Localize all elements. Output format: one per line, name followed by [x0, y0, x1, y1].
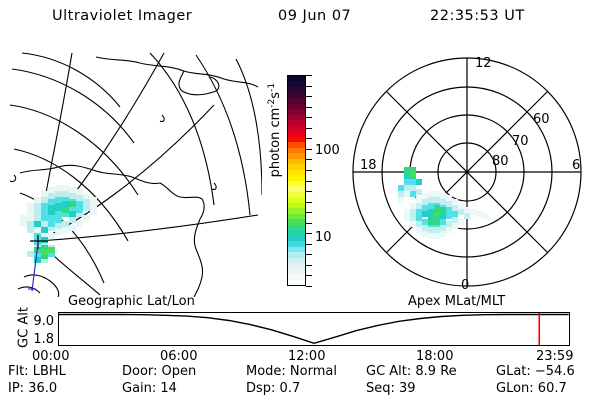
geographic-map-svg	[0, 45, 262, 297]
colorbar-tick	[306, 286, 312, 287]
observation-time: 22:35:53 UT	[430, 8, 525, 24]
orbit-xtick-0: 00:00	[32, 349, 69, 364]
orbit-ytick-low: 1.8	[20, 332, 54, 347]
status-dsp: Dsp: 0.7	[246, 381, 300, 396]
status-glat: GLat: −54.6	[496, 364, 575, 379]
colorbar-tick	[306, 191, 312, 192]
longitude-gridlines	[38, 53, 258, 295]
orbit-xtick-3: 18:00	[416, 349, 453, 364]
header-bar: Ultraviolet Imager 09 Jun 07 22:35:53 UT	[0, 8, 600, 30]
colorbar-exponent-minus1: -1	[267, 83, 277, 92]
colorbar-tick-label-10: 10	[315, 230, 332, 245]
colorbar-band	[288, 280, 305, 286]
colorbar-tick	[306, 117, 312, 118]
status-filter: Flt: LBHL	[8, 364, 66, 379]
mlt-label-dusk: 18	[360, 158, 377, 173]
colorbar-tick	[306, 107, 312, 108]
orbit-altitude-svg	[59, 313, 569, 345]
colorbar-tick	[306, 212, 312, 213]
geographic-map-panel[interactable]	[0, 45, 262, 297]
status-gc-alt: GC Alt: 8.9 Re	[366, 364, 457, 379]
colorbar-tick	[306, 202, 312, 203]
colorbar-tick	[306, 244, 312, 245]
orbit-ytick-high: 9.0	[20, 314, 54, 329]
apex-panel-caption: Apex MLat/MLT	[408, 294, 505, 309]
mlt-ring-label-80: 80	[492, 154, 509, 169]
colorbar-tick	[306, 170, 312, 171]
colorbar-tick	[306, 138, 312, 139]
status-door: Door: Open	[122, 364, 196, 379]
colorbar-gradient	[287, 75, 306, 286]
mlt-label-noon: 12	[475, 56, 492, 71]
colorbar-tick	[306, 159, 312, 160]
status-gain: Gain: 14	[122, 381, 177, 396]
colorbar-tick	[306, 128, 312, 129]
status-ip: IP: 36.0	[8, 381, 57, 396]
apex-mlt-svg: 12 18 6 0 60 70 80	[336, 45, 600, 297]
status-footer: Flt: LBHL IP: 36.0 Door: Open Gain: 14 M…	[0, 364, 600, 400]
mlt-label-dawn: 6	[572, 158, 580, 173]
colorbar-tick	[306, 149, 312, 150]
colorbar-tick	[306, 275, 312, 276]
colorbar-axis-title-s: s	[268, 92, 283, 99]
colorbar-exponent-minus2: -2	[267, 99, 277, 108]
colorbar-tick	[306, 181, 312, 182]
colorbar-tick	[306, 223, 312, 224]
colorbar-tick	[306, 96, 312, 97]
orbit-altitude-plot[interactable]	[58, 312, 570, 346]
colorbar-axis-title-text: photon cm	[268, 108, 283, 178]
colorbar-tick	[306, 265, 312, 266]
mlt-ring-label-70: 70	[512, 134, 529, 149]
orbit-xtick-2: 12:00	[288, 349, 325, 364]
colorbar-axis-title: photon cm-2s-1	[267, 65, 283, 195]
orbit-altitude-curve	[59, 315, 569, 344]
status-mode: Mode: Normal	[246, 364, 337, 379]
colorbar-tick	[306, 233, 312, 234]
geographic-panel-caption: Geographic Lat/Lon	[68, 294, 195, 309]
mlt-label-midnight: 0	[461, 278, 469, 293]
auroral-emission-geographic	[20, 185, 97, 263]
colorbar-tick	[306, 86, 312, 87]
mlt-ring-label-60: 60	[533, 112, 550, 127]
observation-date: 09 Jun 07	[278, 8, 351, 24]
colorbar-tick	[306, 75, 312, 76]
outer-gridlines	[150, 53, 262, 215]
instrument-title: Ultraviolet Imager	[52, 8, 192, 24]
status-glon: GLon: 60.7	[496, 381, 567, 396]
orbit-xtick-4: 23:59	[536, 349, 573, 364]
colorbar-tick	[306, 254, 312, 255]
latitude-gridlines	[10, 53, 138, 283]
apex-mlt-panel[interactable]: 12 18 6 0 60 70 80	[336, 45, 600, 297]
orbit-xtick-1: 06:00	[160, 349, 197, 364]
colorbar-ticks	[306, 75, 313, 286]
status-seq: Seq: 39	[366, 381, 416, 396]
